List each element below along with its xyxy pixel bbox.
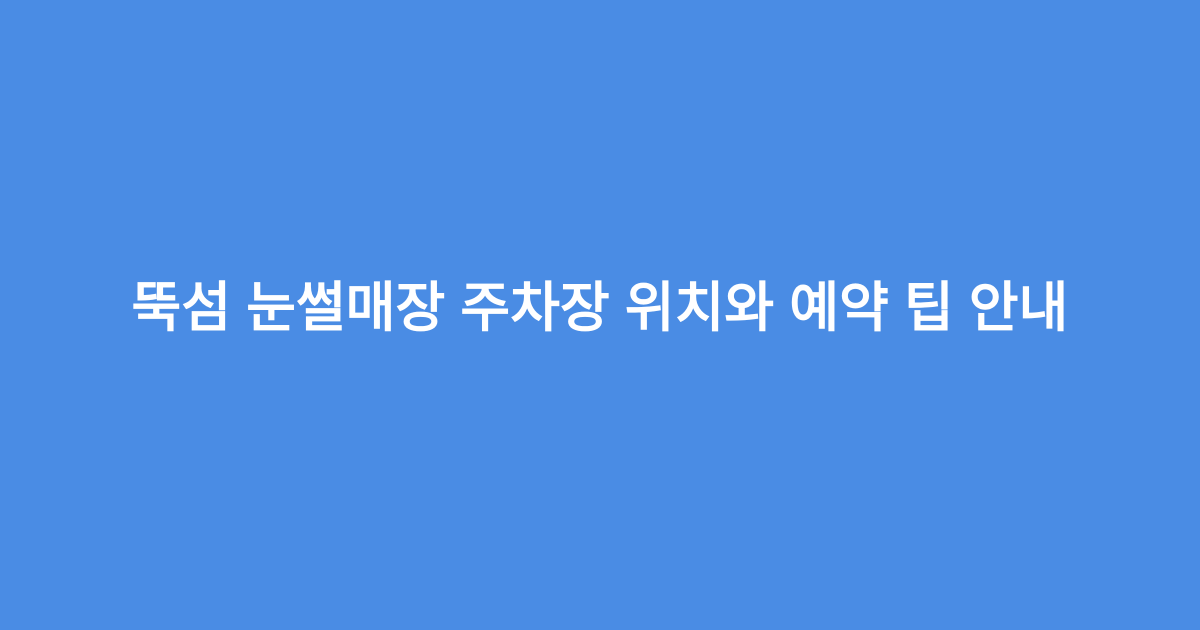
share-card: 뚝섬 눈썰매장 주차장 위치와 예약 팁 안내	[0, 0, 1200, 630]
page-title: 뚝섬 눈썰매장 주차장 위치와 예약 팁 안내	[70, 267, 1130, 349]
title-block: 뚝섬 눈썰매장 주차장 위치와 예약 팁 안내	[70, 267, 1130, 349]
